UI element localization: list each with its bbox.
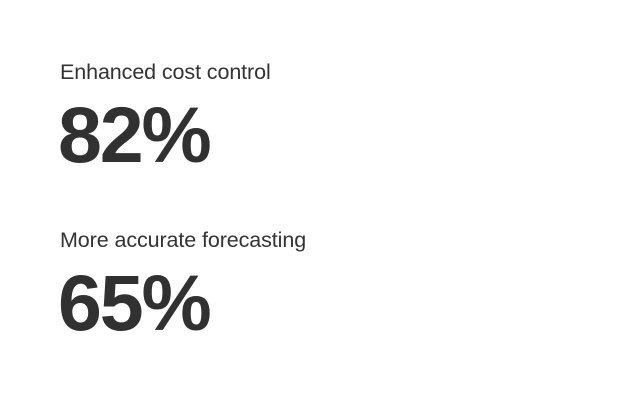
stats-panel: Enhanced cost control 82% More accurate …	[0, 0, 634, 402]
stat-value: 65%	[58, 260, 306, 346]
stat-block: Enhanced cost control 82%	[60, 58, 271, 178]
stat-label: Enhanced cost control	[60, 58, 271, 86]
stat-value: 82%	[58, 92, 271, 178]
stat-label: More accurate forecasting	[60, 226, 306, 254]
stat-block: More accurate forecasting 65%	[60, 226, 306, 346]
